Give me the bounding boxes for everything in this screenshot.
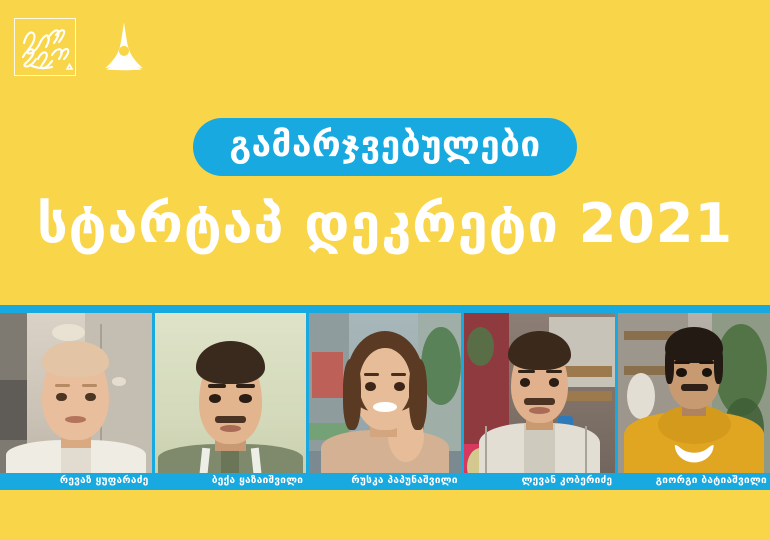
winner-name: რევაზ ყუფარაძე xyxy=(0,473,152,491)
winner-cell[interactable]: ბექა ყაზაიშვილი xyxy=(155,313,310,490)
winner-name: გიორგი ბატიაშვილი xyxy=(618,473,770,491)
winner-name: ლევან კობერიძე xyxy=(464,473,616,491)
hoodie-logo xyxy=(670,440,719,468)
page-title: სტარტაპ დეკრეტი 2021 xyxy=(0,196,770,253)
winner-photo xyxy=(0,313,152,490)
winner-photo xyxy=(155,313,307,490)
winner-photo xyxy=(618,313,770,490)
winners-badge: გამარჯვებულები xyxy=(193,118,576,176)
winner-cell[interactable]: რევაზ ყუფარაძე xyxy=(0,313,155,490)
winner-name: ბექა ყაზაიშვილი xyxy=(155,473,307,491)
startup-script-logo xyxy=(14,18,76,76)
winner-name: რუსკა პაპუნაშვილი xyxy=(309,473,461,491)
poster-canvas: გამარჯვებულები სტარტაპ დეკრეტი 2021 xyxy=(0,0,770,540)
triangle-logo xyxy=(96,19,152,75)
winner-cell[interactable]: ლევან კობერიძე xyxy=(464,313,619,490)
winner-photo xyxy=(309,313,461,490)
title-block: გამარჯვებულები სტარტაპ დეკრეტი 2021 xyxy=(0,118,770,252)
winner-photo xyxy=(464,313,616,490)
logo-bar xyxy=(14,16,152,78)
winners-photo-strip: რევაზ ყუფარაძე ბექა ყაზაიშვილი xyxy=(0,305,770,490)
winner-cell[interactable]: რუსკა პაპუნაშვილი xyxy=(309,313,464,490)
winner-cell[interactable]: გიორგი ბატიაშვილი xyxy=(618,313,770,490)
